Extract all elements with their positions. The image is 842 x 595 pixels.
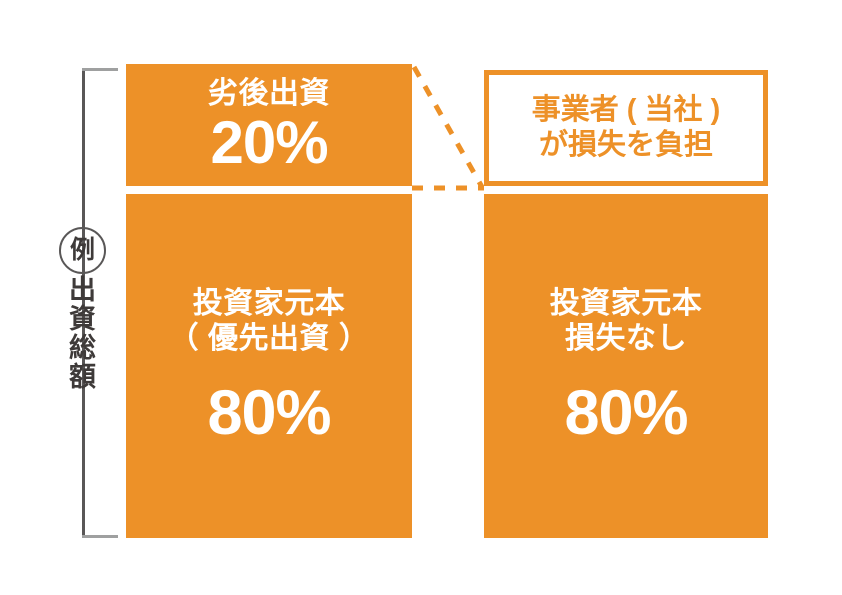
connector-diagonal-dashed-line [414,67,482,187]
axis-label-char-1: 出 [63,276,103,305]
bar-investor-principal-title-line-2: （ 優先出資 ） [169,322,370,357]
bar-investor-principal-percent: 80% [207,382,330,445]
axis-label-char-2: 資 [63,305,103,334]
example-badge-label: 例 [70,238,95,263]
diagram-canvas: 例 出 資 総 額 劣後出資 20% 投資家元本 （ 優先出資 ） 80% 事業… [0,0,842,595]
bar-subordinated-investment: 劣後出資 20% [126,64,412,186]
bar-investor-principal-preferred: 投資家元本 （ 優先出資 ） 80% [126,194,412,538]
axis-label-char-3: 総 [63,334,103,363]
bar-no-loss-percent: 80% [564,382,687,445]
bar-subordinated-title: 劣後出資 [208,77,330,112]
bar-no-loss-title-line-2: 損失なし [550,322,703,357]
bar-subordinated-title-line-1: 劣後出資 [208,77,330,112]
bar-investor-principal-title-line-1: 投資家元本 [169,287,370,322]
callout-text-line-1: 事業者 ( 当社 ) [532,93,721,128]
bar-no-loss-title: 投資家元本 損失なし [550,287,703,357]
axis-label-total-investment: 出 資 総 額 [63,276,103,393]
bar-investor-principal-title: 投資家元本 （ 優先出資 ） [169,287,370,357]
bracket-top-tick [82,68,118,71]
example-badge: 例 [59,227,106,274]
bar-no-loss-title-line-1: 投資家元本 [550,287,703,322]
bar-investor-principal-no-loss: 投資家元本 損失なし 80% [484,194,768,538]
axis-label-char-4: 額 [63,363,103,392]
bracket-bottom-tick [82,535,118,538]
callout-text-line-2: が損失を負担 [532,128,721,163]
callout-text: 事業者 ( 当社 ) が損失を負担 [532,93,721,164]
bar-subordinated-percent: 20% [210,113,327,173]
callout-operator-bears-loss: 事業者 ( 当社 ) が損失を負担 [484,70,768,186]
